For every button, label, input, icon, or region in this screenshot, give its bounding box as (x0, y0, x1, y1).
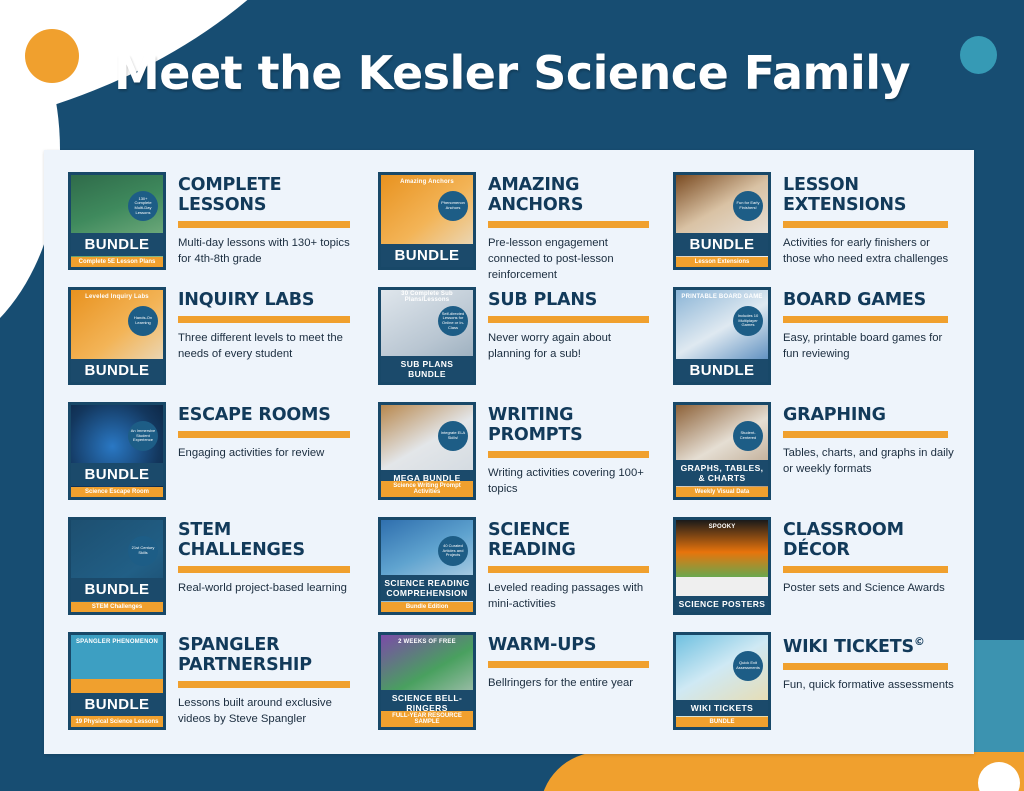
product-meta: AMAZING ANCHORSPre-lesson engagement con… (476, 172, 649, 283)
product-thumbnail[interactable]: An Immersive Student ExperienceScience E… (68, 402, 166, 500)
product-item[interactable]: PRINTABLE BOARD GAMEIncludes 10 Multipla… (649, 287, 974, 402)
product-title: STEM CHALLENGES (178, 521, 354, 561)
product-title-text: WIKI TICKETS (783, 637, 914, 657)
accent-rule (488, 566, 649, 573)
thumbnail-top-label: 30 Complete Sub Plans/Lessons (381, 290, 473, 303)
product-item[interactable]: 2 WEEKS OF FREEFULL-YEAR RESOURCE SAMPLE… (354, 632, 649, 747)
product-meta: BOARD GAMESEasy, printable board games f… (771, 287, 974, 362)
accent-rule (783, 316, 948, 323)
product-meta: GRAPHINGTables, charts, and graphs in da… (771, 402, 974, 477)
product-description: Tables, charts, and graphs in daily or w… (783, 445, 955, 477)
thumbnail-badge: 130+ Complete Multi-Day Lessons (128, 191, 158, 221)
copyright-mark: © (914, 635, 925, 648)
product-title: SCIENCE READING (488, 521, 649, 561)
thumbnail-sub-label: Bundle Edition (381, 602, 473, 612)
product-title: WARM-UPS (488, 636, 649, 656)
product-title: ESCAPE ROOMS (178, 406, 354, 426)
product-thumbnail[interactable]: Student-CenteredWeekly Visual DataGRAPHS… (673, 402, 771, 500)
thumbnail-top-label: Amazing Anchors (381, 175, 473, 188)
product-description: Real-world project-based learning (178, 580, 350, 596)
thumbnail-top-label: 2 WEEKS OF FREE (381, 635, 473, 648)
thumbnail-sub-label: Weekly Visual Data (676, 487, 768, 497)
product-item[interactable]: 130+ Complete Multi-Day LessonsComplete … (44, 172, 354, 287)
thumbnail-badge: Hands-On Learning (128, 306, 158, 336)
thumbnail-bundle-label: BUNDLE (71, 578, 163, 601)
product-description: Writing activities covering 100+ topics (488, 465, 649, 497)
thumbnail-top-label: Leveled Inquiry Labs (71, 290, 163, 303)
product-thumbnail[interactable]: PRINTABLE BOARD GAMEIncludes 10 Multipla… (673, 287, 771, 385)
product-meta: SPANGLER PARTNERSHIPLessons built around… (166, 632, 354, 727)
product-meta: CLASSROOM DÉCORPoster sets and Science A… (771, 517, 974, 596)
accent-rule (488, 451, 649, 458)
product-description: Engaging activities for review (178, 445, 350, 461)
thumbnail-bundle-label: BUNDLE (676, 233, 768, 256)
product-title: CLASSROOM DÉCOR (783, 521, 974, 561)
page-title: Meet the Kesler Science Family (0, 46, 1024, 100)
product-thumbnail[interactable]: Quick Exit AssessmentsBUNDLEWIKI TICKETS (673, 632, 771, 730)
product-item[interactable]: Student-CenteredWeekly Visual DataGRAPHS… (649, 402, 974, 517)
accent-rule (178, 431, 350, 438)
product-description: Activities for early finishers or those … (783, 235, 955, 267)
thumbnail-top-label: PRINTABLE BOARD GAME (676, 290, 768, 303)
thumbnail-badge: 21st Century Skills (128, 536, 158, 566)
accent-rule (783, 221, 948, 228)
product-description: Bellringers for the entire year (488, 675, 649, 691)
thumbnail-sub-label: Science Escape Room (71, 487, 163, 497)
product-description: Easy, printable board games for fun revi… (783, 330, 955, 362)
thumbnail-badge: Self-directed Lessons for Online or In-C… (438, 306, 468, 336)
content-card: 130+ Complete Multi-Day LessonsComplete … (44, 150, 974, 754)
product-thumbnail[interactable]: 21st Century SkillsSTEM ChallengesBUNDLE (68, 517, 166, 615)
product-meta: STEM CHALLENGESReal-world project-based … (166, 517, 354, 596)
product-item[interactable]: Integrate ELA Skills!Science Writing Pro… (354, 402, 649, 517)
product-description: Pre-lesson engagement connected to post-… (488, 235, 649, 283)
product-title: GRAPHING (783, 406, 974, 426)
product-title: INQUIRY LABS (178, 291, 354, 311)
accent-rule (783, 566, 948, 573)
product-meta: WRITING PROMPTSWriting activities coveri… (476, 402, 649, 497)
product-description: Multi-day lessons with 130+ topics for 4… (178, 235, 350, 267)
accent-rule (488, 221, 649, 228)
product-meta: WARM-UPSBellringers for the entire year (476, 632, 649, 691)
product-thumbnail[interactable]: 130+ Complete Multi-Day LessonsComplete … (68, 172, 166, 270)
product-item[interactable]: 40 Curated Articles and ProjectsBundle E… (354, 517, 649, 632)
thumbnail-badge: Quick Exit Assessments (733, 651, 763, 681)
product-grid: 130+ Complete Multi-Day LessonsComplete … (44, 150, 974, 754)
thumbnail-bundle-label: BUNDLE (71, 233, 163, 256)
product-title: BOARD GAMES (783, 291, 974, 311)
accent-rule (178, 316, 350, 323)
thumbnail-bundle-label: BUNDLE (71, 359, 163, 382)
product-description: Leveled reading passages with mini-activ… (488, 580, 649, 612)
thumbnail-bundle-label: BUNDLE (381, 244, 473, 267)
accent-rule (783, 431, 948, 438)
product-description: Lessons built around exclusive videos by… (178, 695, 350, 727)
thumbnail-bundle-label: SCIENCE POSTERS (676, 596, 768, 612)
product-thumbnail[interactable]: SPANGLER PHENOMENON19 Physical Science L… (68, 632, 166, 730)
product-thumbnail[interactable]: 2 WEEKS OF FREEFULL-YEAR RESOURCE SAMPLE… (378, 632, 476, 730)
thumbnail-top-label: SPOOKY (676, 520, 768, 533)
product-meta: ESCAPE ROOMSEngaging activities for revi… (166, 402, 354, 461)
thumbnail-sub-label: Science Writing Prompt Activities (381, 481, 473, 497)
thumbnail-bundle-label: GRAPHS, TABLES, & CHARTS (676, 460, 768, 486)
thumbnail-bundle-label: SUB PLANS BUNDLE (381, 356, 473, 382)
thumbnail-sub-label: FULL-YEAR RESOURCE SAMPLE (381, 711, 473, 727)
product-title: SPANGLER PARTNERSHIP (178, 636, 354, 676)
accent-rule (178, 681, 350, 688)
product-description: Three different levels to meet the needs… (178, 330, 350, 362)
product-meta: WIKI TICKETS©Fun, quick formative assess… (771, 632, 974, 693)
thumbnail-bundle-label: SCIENCE READING COMPREHENSION (381, 575, 473, 601)
product-title: WRITING PROMPTS (488, 406, 649, 446)
product-title: WIKI TICKETS© (783, 636, 974, 658)
thumbnail-badge: Includes 10 Multiplayer Games (733, 306, 763, 336)
product-meta: INQUIRY LABSThree different levels to me… (166, 287, 354, 362)
thumbnail-bundle-label: WIKI TICKETS (676, 700, 768, 716)
product-title: AMAZING ANCHORS (488, 176, 649, 216)
product-thumbnail[interactable]: 30 Complete Sub Plans/LessonsSelf-direct… (378, 287, 476, 385)
thumbnail-badge: An Immersive Student Experience (128, 421, 158, 451)
product-description: Poster sets and Science Awards (783, 580, 955, 596)
product-thumbnail[interactable]: Leveled Inquiry LabsHands-On LearningBUN… (68, 287, 166, 385)
thumbnail-badge: Fun for Early Finishers! (733, 191, 763, 221)
thumbnail-badge: 40 Curated Articles and Projects (438, 536, 468, 566)
thumbnail-badge: Phenomenon Anchors (438, 191, 468, 221)
product-meta: COMPLETE LESSONSMulti-day lessons with 1… (166, 172, 354, 267)
accent-rule (488, 661, 649, 668)
thumbnail-sub-label: 19 Physical Science Lessons (71, 717, 163, 727)
product-title: LESSON EXTENSIONS (783, 176, 974, 216)
thumbnail-bundle-label: BUNDLE (71, 693, 163, 716)
thumbnail-badge: Student-Centered (733, 421, 763, 451)
product-item[interactable]: 21st Century SkillsSTEM ChallengesBUNDLE… (44, 517, 354, 632)
thumbnail-top-label: SPANGLER PHENOMENON (71, 635, 163, 648)
thumbnail-bundle-label: BUNDLE (676, 359, 768, 382)
product-thumbnail[interactable]: Fun for Early Finishers!Lesson Extension… (673, 172, 771, 270)
product-meta: LESSON EXTENSIONSActivities for early fi… (771, 172, 974, 267)
accent-rule (783, 663, 948, 670)
product-thumbnail[interactable]: Integrate ELA Skills!Science Writing Pro… (378, 402, 476, 500)
product-item[interactable]: 30 Complete Sub Plans/LessonsSelf-direct… (354, 287, 649, 402)
thumbnail-sub-label: STEM Challenges (71, 602, 163, 612)
product-item[interactable]: SPANGLER PHENOMENON19 Physical Science L… (44, 632, 354, 747)
product-title: COMPLETE LESSONS (178, 176, 354, 216)
product-meta: SUB PLANSNever worry again about plannin… (476, 287, 649, 362)
product-thumbnail[interactable]: 40 Curated Articles and ProjectsBundle E… (378, 517, 476, 615)
product-thumbnail[interactable]: Amazing AnchorsPhenomenon AnchorsBUNDLE (378, 172, 476, 270)
poster-canvas: Meet the Kesler Science Family 130+ Comp… (0, 0, 1024, 791)
thumbnail-sub-label: Complete 5E Lesson Plans (71, 257, 163, 267)
product-title: SUB PLANS (488, 291, 649, 311)
product-description: Fun, quick formative assessments (783, 677, 955, 693)
product-item[interactable]: Fun for Early Finishers!Lesson Extension… (649, 172, 974, 287)
product-thumbnail[interactable]: SPOOKYSCIENCE POSTERS (673, 517, 771, 615)
product-meta: SCIENCE READINGLeveled reading passages … (476, 517, 649, 612)
thumbnail-sub-label: Lesson Extensions (676, 257, 768, 267)
thumbnail-badge: Integrate ELA Skills! (438, 421, 468, 451)
thumbnail-sub-label: BUNDLE (676, 717, 768, 727)
accent-rule (178, 566, 350, 573)
thumbnail-bundle-label: BUNDLE (71, 463, 163, 486)
accent-rule (488, 316, 649, 323)
product-item[interactable]: Leveled Inquiry LabsHands-On LearningBUN… (44, 287, 354, 402)
product-description: Never worry again about planning for a s… (488, 330, 649, 362)
accent-rule (178, 221, 350, 228)
product-item[interactable]: An Immersive Student ExperienceScience E… (44, 402, 354, 517)
product-item[interactable]: Quick Exit AssessmentsBUNDLEWIKI TICKETS… (649, 632, 974, 747)
product-item[interactable]: SPOOKYSCIENCE POSTERSCLASSROOM DÉCORPost… (649, 517, 974, 632)
product-item[interactable]: Amazing AnchorsPhenomenon AnchorsBUNDLEA… (354, 172, 649, 287)
